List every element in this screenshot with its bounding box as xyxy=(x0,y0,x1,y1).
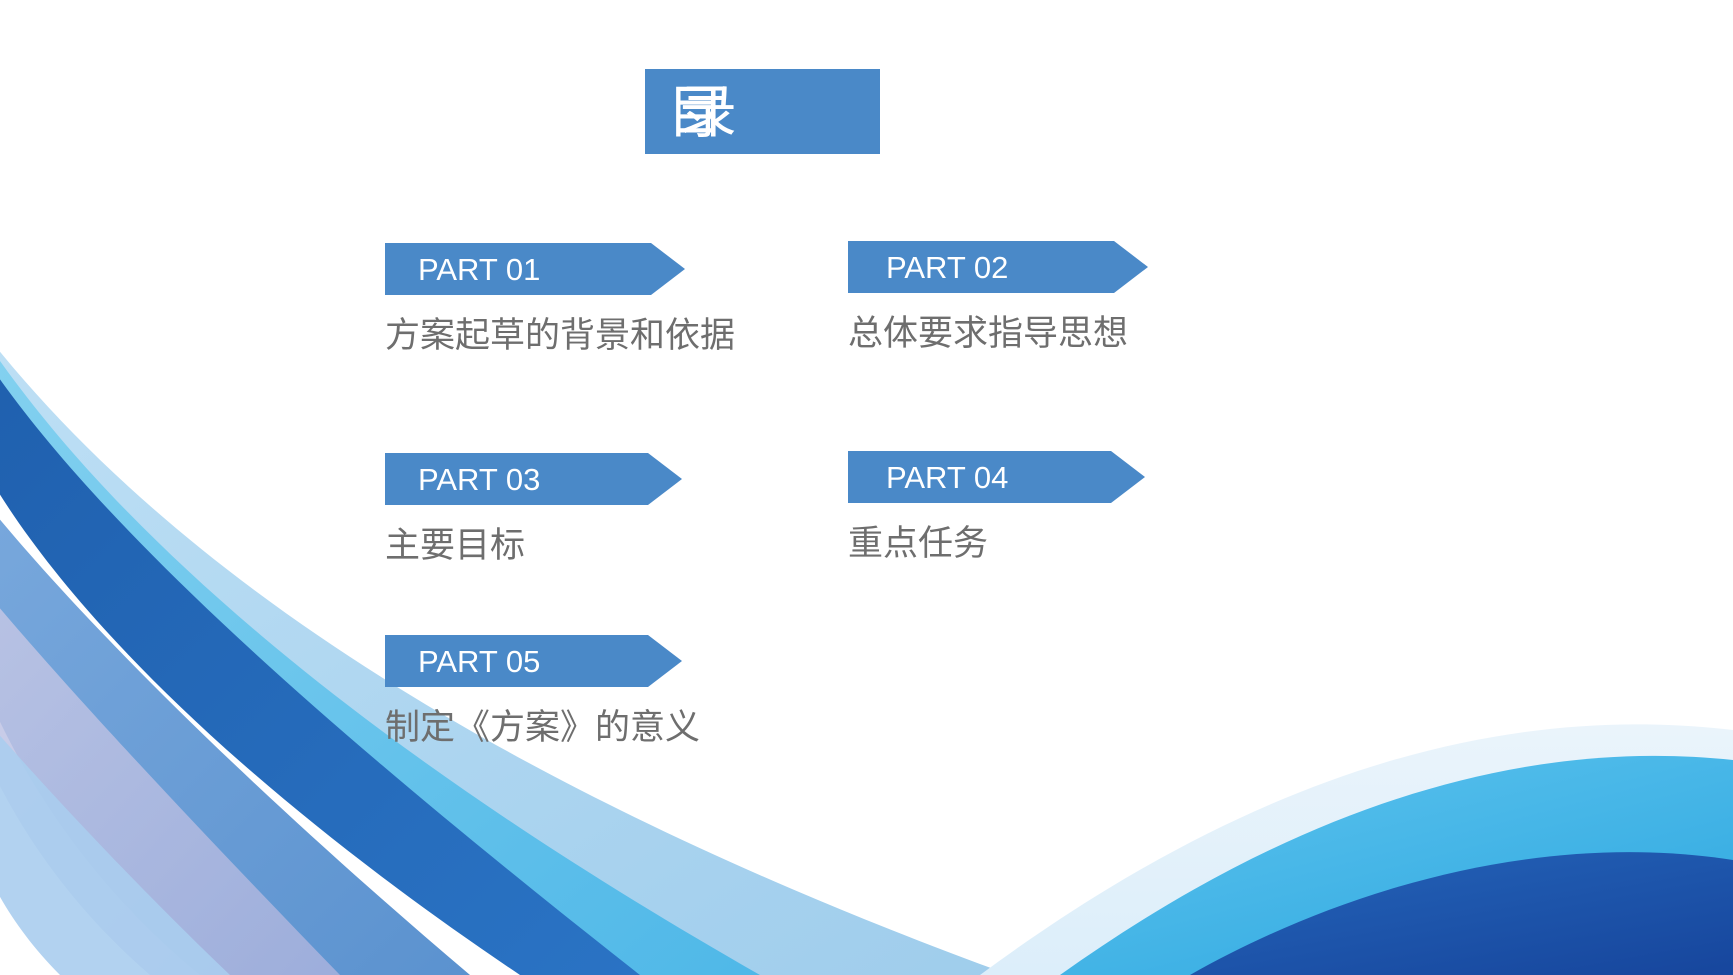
part-banner-1[interactable]: PART 01 xyxy=(385,243,685,295)
contents-entry-2[interactable]: PART 02 总体要求指导思想 xyxy=(848,241,1148,357)
contents-list: PART 01 方案起草的背景和依据 PART 02 总体要求指导思想 PART… xyxy=(0,0,1733,975)
slide-canvas: 目录 PART 01 方案起草的背景和依据 PART 02 总体要求指导思想 P… xyxy=(0,0,1733,975)
part-description-1: 方案起草的背景和依据 xyxy=(385,315,735,359)
part-description-4: 重点任务 xyxy=(848,523,1145,567)
part-banner-4[interactable]: PART 04 xyxy=(848,451,1145,503)
part-banner-label-2: PART 02 xyxy=(886,252,1008,283)
contents-entry-4[interactable]: PART 04 重点任务 xyxy=(848,451,1145,567)
part-banner-3[interactable]: PART 03 xyxy=(385,453,682,505)
part-banner-label-3: PART 03 xyxy=(418,464,540,495)
part-banner-label-4: PART 04 xyxy=(886,462,1008,493)
part-banner-5[interactable]: PART 05 xyxy=(385,635,682,687)
part-description-2: 总体要求指导思想 xyxy=(848,313,1148,357)
contents-entry-1[interactable]: PART 01 方案起草的背景和依据 xyxy=(385,243,735,359)
part-banner-2[interactable]: PART 02 xyxy=(848,241,1148,293)
part-banner-label-5: PART 05 xyxy=(418,646,540,677)
part-description-5: 制定《方案》的意义 xyxy=(385,707,700,751)
contents-entry-3[interactable]: PART 03 主要目标 xyxy=(385,453,682,569)
part-description-3: 主要目标 xyxy=(385,525,682,569)
contents-entry-5[interactable]: PART 05 制定《方案》的意义 xyxy=(385,635,700,751)
part-banner-label-1: PART 01 xyxy=(418,254,540,285)
